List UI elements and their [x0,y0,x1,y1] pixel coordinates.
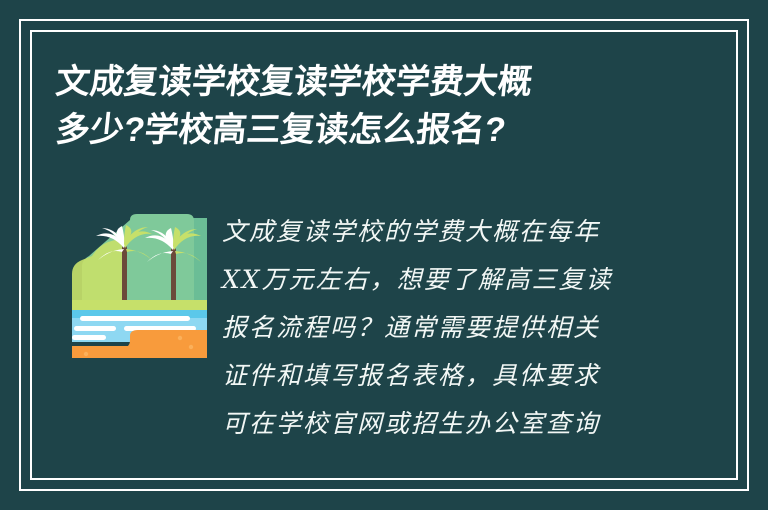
poster-card: 文成复读学校复读学校学费大概 多少?学校高三复读怎么报名? [0,0,768,510]
body-line-5: 可在学校官网或招生办公室查询 [222,400,692,448]
body-line-2: XX万元左右，想要了解高三复读 [222,256,692,304]
body-paragraph: 文成复读学校的学费大概在每年 XX万元左右，想要了解高三复读 报名流程吗？通常需… [222,208,692,448]
body-line-4: 证件和填写报名表格，具体要求 [222,352,692,400]
tropical-beach-island-icon [72,208,207,360]
body-line-3: 报名流程吗？通常需要提供相关 [222,304,692,352]
headline-line-2: 多少?学校高三复读怎么报名? [53,106,698,154]
headline-line-1: 文成复读学校复读学校学费大概 [53,58,698,106]
body-line-1: 文成复读学校的学费大概在每年 [222,208,692,256]
content-row: 文成复读学校的学费大概在每年 XX万元左右，想要了解高三复读 报名流程吗？通常需… [0,200,768,470]
page-title: 文成复读学校复读学校学费大概 多少?学校高三复读怎么报名? [56,58,696,154]
